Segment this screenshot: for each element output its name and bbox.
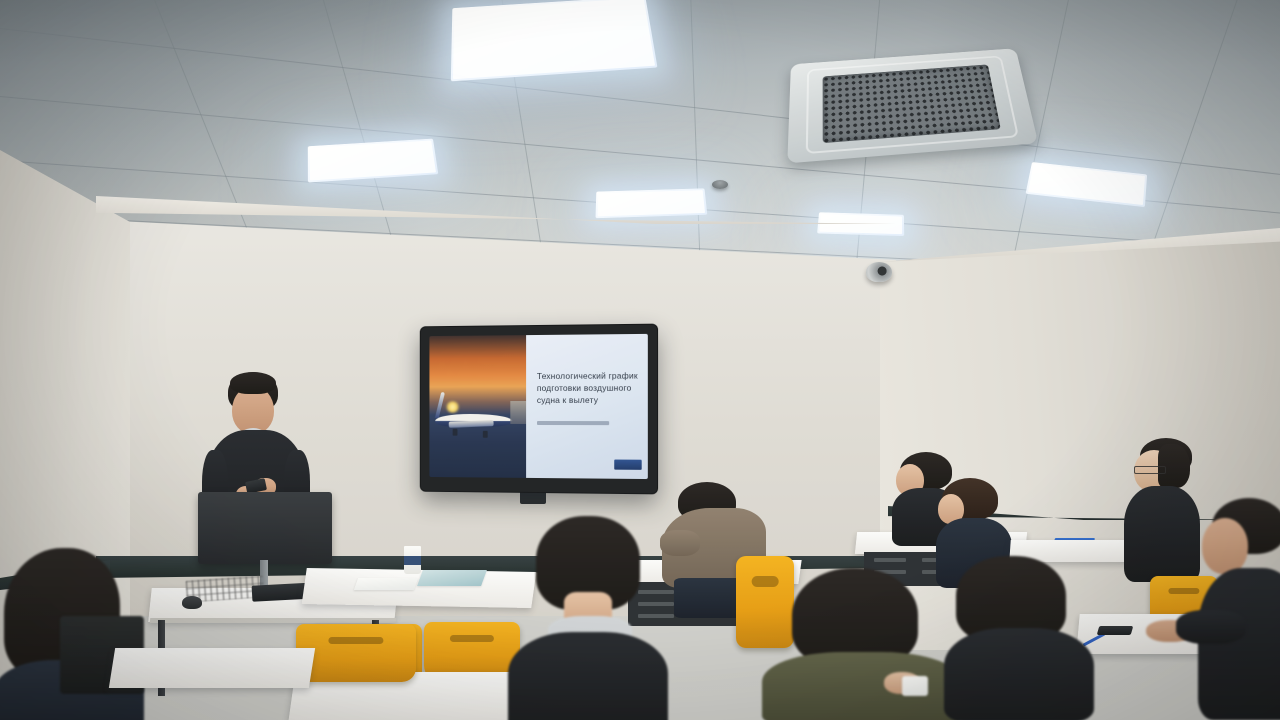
paper-coffee-cup [404,546,421,574]
student-right-foreground [1198,498,1280,720]
chair-handle-slot [450,635,494,642]
slide-title: Технологический график подготовки воздуш… [537,370,639,406]
ceiling-light-panel [817,212,904,236]
student-with-glasses [1124,438,1204,588]
student-torso [508,632,668,720]
presenter-desk-edge [150,618,397,623]
tv-screen: Технологический график подготовки воздуш… [429,334,647,479]
ceiling-light-panel [596,188,708,218]
presenter-monitor [198,492,332,564]
left-desk [109,648,315,688]
mouse [182,596,202,609]
smartphone-on-desk [1097,626,1134,635]
student-foreground-center [508,516,668,720]
student-torso [1198,568,1280,720]
classroom-photo-scene: Технологический график подготовки воздуш… [0,0,1280,720]
cup-band [404,556,421,566]
documents-on-desk [417,570,487,586]
slide-text-panel: Технологический график подготовки воздуш… [526,334,648,479]
sun-glow [445,401,461,413]
presenter-hair-top [230,372,276,394]
paper-in-hand [902,676,928,696]
chair-handle-slot [1168,588,1199,594]
student-torso [944,628,1094,720]
student-torso [1124,486,1200,582]
wall-mounted-tv: Технологический график подготовки воздуш… [421,325,657,494]
aircraft-tail [435,392,445,417]
slide-title-line-2: подготовки воздушного [537,382,639,394]
panel-slot [874,558,906,562]
chair-handle-slot [328,637,383,644]
student-right-middle [944,556,1094,720]
aircraft-wing [448,420,493,427]
ceiling-light-panel [451,0,658,81]
slide-logo [615,460,642,470]
glasses-icon [1134,466,1166,474]
jet-bridge [510,401,526,424]
student-arm [1176,610,1246,644]
security-camera-icon [866,262,892,282]
student-head [1202,518,1248,574]
papers [354,578,418,590]
slide-photo-aircraft [429,335,526,478]
student-torso [762,652,962,720]
front-desk [302,568,537,608]
aircraft-landing-gear [483,431,488,438]
slide-title-line-1: Технологический график [537,370,639,382]
smoke-detector-icon [712,180,728,189]
aircraft-landing-gear [452,429,457,436]
student-middle-olive [762,568,962,720]
air-conditioner-unit [787,48,1038,163]
slide-subtitle-placeholder [537,421,610,425]
slide-title-line-3: судна к вылету [537,394,639,406]
